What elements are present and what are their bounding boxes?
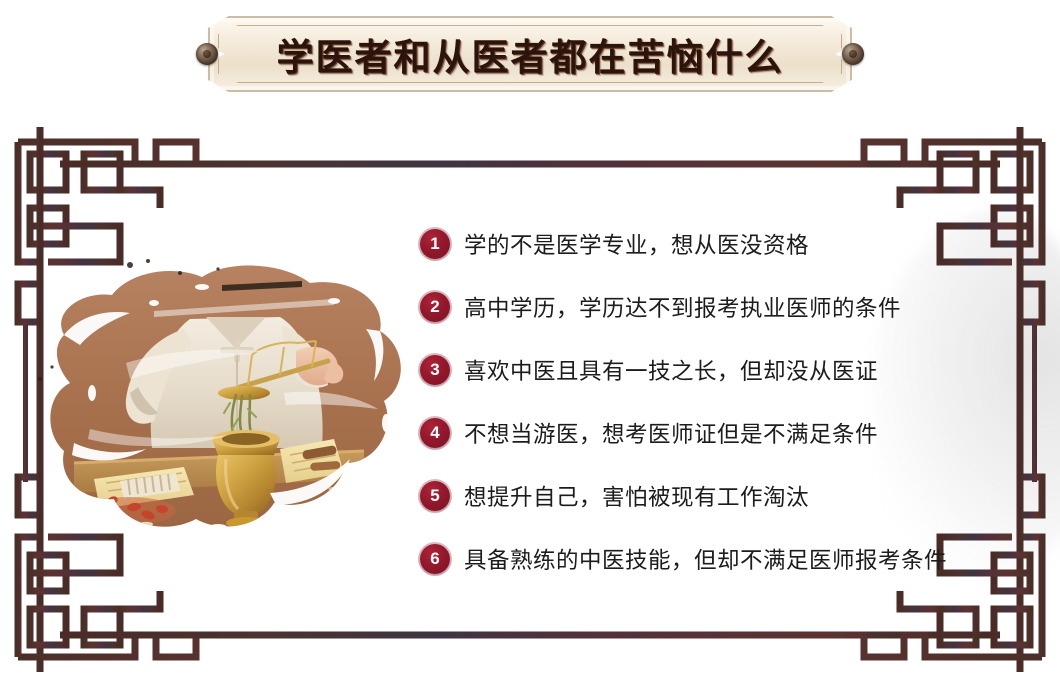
list-item[interactable]: 3 喜欢中医且具有一技之长，但却没从医证: [420, 338, 1050, 401]
list-item[interactable]: 2 高中学历，学历达不到报考执业医师的条件: [420, 275, 1050, 338]
list-item[interactable]: 4 不想当游医，想考医师证但是不满足条件: [420, 401, 1050, 464]
slide-canvas: 学医者和从医者都在苦恼什么: [0, 0, 1060, 687]
list-item-text: 具备熟练的中医技能，但却不满足医师报考条件: [464, 543, 947, 575]
page-title: 学医者和从医者都在苦恼什么: [277, 27, 784, 81]
list-number-badge: 1: [420, 229, 450, 259]
list-item[interactable]: 1 学的不是医学专业，想从医没资格: [420, 212, 1050, 275]
list-item-text: 高中学历，学历达不到报考执业医师的条件: [464, 291, 901, 323]
list-item-text: 学的不是医学专业，想从医没资格: [464, 228, 809, 260]
plaque-body: 学医者和从医者都在苦恼什么: [208, 16, 852, 92]
list-item[interactable]: 6 具备熟练的中医技能，但却不满足医师报考条件: [420, 527, 1050, 590]
list-number-badge: 6: [420, 544, 450, 574]
list-item-text: 不想当游医，想考医师证但是不满足条件: [464, 417, 878, 449]
list-number-badge: 3: [420, 355, 450, 385]
list-item-text: 喜欢中医且具有一技之长，但却没从医证: [464, 354, 878, 386]
right-knob-icon: [842, 43, 864, 65]
list-number-badge: 2: [420, 292, 450, 322]
list-number-badge: 4: [420, 418, 450, 448]
title-plaque: 学医者和从医者都在苦恼什么: [196, 16, 864, 92]
list-number-badge: 5: [420, 481, 450, 511]
tcm-practitioner-photo: [34, 243, 434, 543]
list-item[interactable]: 5 想提升自己，害怕被现有工作淘汰: [420, 464, 1050, 527]
left-knob-icon: [196, 43, 218, 65]
list-item-text: 想提升自己，害怕被现有工作淘汰: [464, 480, 809, 512]
pain-point-list: 1 学的不是医学专业，想从医没资格 2 高中学历，学历达不到报考执业医师的条件 …: [420, 212, 1050, 590]
